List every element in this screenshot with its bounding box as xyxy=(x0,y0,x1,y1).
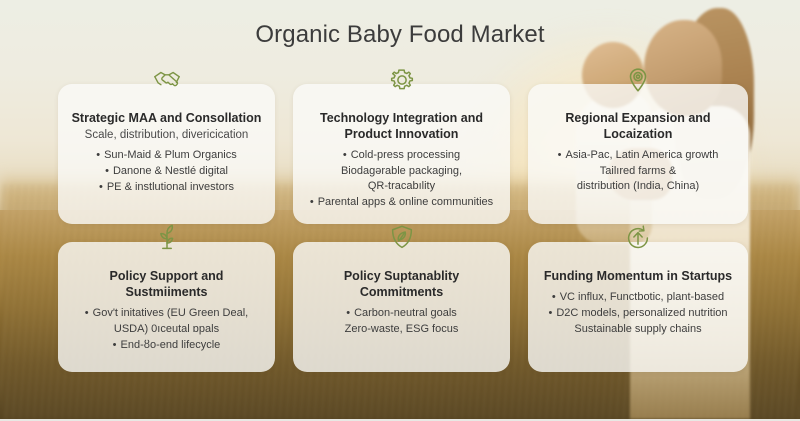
handshake-icon xyxy=(150,63,184,97)
list-item: Carbon-neutral goals xyxy=(303,306,500,322)
card-title: Policy Support and Sustmiiments xyxy=(68,268,265,300)
card-policy-suptanablity-commitments[interactable]: Policy Suptanablity Commitments Carbon-n… xyxy=(293,242,510,372)
list-item: Zero-waste, ESG focus xyxy=(303,322,500,338)
location-pin-icon xyxy=(621,63,655,97)
card-title: Regional Expansion and Locaization xyxy=(538,110,738,142)
card-policy-support-and-sustmiiments[interactable]: Policy Support and Sustmiiments Gov't in… xyxy=(58,242,275,372)
card-bullet-list: Asia-Pac, Latin America growth Tailıred … xyxy=(538,148,738,195)
card-bullet-list: Sun-Maid & Plum Organics Danone & Nestlé… xyxy=(68,148,265,195)
list-item: Sun-Maid & Plum Organics xyxy=(68,148,265,164)
infographic-root: Organic Baby Food Market xyxy=(0,0,800,421)
shield-leaf-icon xyxy=(385,221,419,255)
card-bullet-list: Cold-press processing Biodagərable packa… xyxy=(303,148,500,210)
list-item: distribution (India, China) xyxy=(538,179,738,195)
gear-icon xyxy=(385,63,419,97)
card-title: Technology Integration and Product Innov… xyxy=(303,110,500,142)
list-item: Tailıred farms & xyxy=(538,164,738,180)
infographic-content: Organic Baby Food Market xyxy=(0,0,800,419)
card-subtitle: Scale, distribution, divericication xyxy=(68,128,265,142)
card-strategic-maa-and-consollation[interactable]: Strategic MAA and Consollation Scale, di… xyxy=(58,84,275,224)
list-item: Parental apps & online communities xyxy=(303,195,500,211)
list-item: Asia-Pac, Latin America growth xyxy=(538,148,738,164)
card-bullet-list: Gov't initatives (EU Green Deal, USDA) 0… xyxy=(68,306,265,353)
sprout-icon xyxy=(150,221,184,255)
card-funding-momentum-in-startups[interactable]: Funding Momentum in Startups VC influx, … xyxy=(528,242,748,372)
card-bullet-list: VC influx, Functbotic, plant-based D2C m… xyxy=(538,290,738,337)
list-item: D2C models, personalized nutrition xyxy=(538,306,738,322)
card-regional-expansion-and-locaization[interactable]: Regional Expansion and Locaization Asia-… xyxy=(528,84,748,224)
list-item: Sustainable supply chains xyxy=(538,322,738,338)
list-item: Danone & Nestlé digital xyxy=(68,164,265,180)
list-item: Cold-press processing xyxy=(303,148,500,164)
card-title: Funding Momentum in Startups xyxy=(538,268,738,284)
card-technology-integration-and-product-innovation[interactable]: Technology Integration and Product Innov… xyxy=(293,84,510,224)
list-item: USDA) 0ıceutal ɒpals xyxy=(68,322,265,338)
card-title: Policy Suptanablity Commitments xyxy=(303,268,500,300)
list-item: Gov't initatives (EU Green Deal, xyxy=(68,306,265,322)
growth-arrow-icon xyxy=(621,221,655,255)
list-item: VC influx, Functbotic, plant-based xyxy=(538,290,738,306)
card-bullet-list: Carbon-neutral goals Zero-waste, ESG foc… xyxy=(303,306,500,337)
list-item: End-ȣo-end lifecycle xyxy=(68,338,265,354)
list-item: PE & instlutional investors xyxy=(68,180,265,196)
cards-grid: Strategic MAA and Consollation Scale, di… xyxy=(58,84,748,372)
list-item: Biodagərable packaging, xyxy=(303,164,500,180)
page-title: Organic Baby Food Market xyxy=(0,22,800,48)
list-item: QR-tracabılity xyxy=(303,179,500,195)
card-title: Strategic MAA and Consollation xyxy=(68,110,265,126)
